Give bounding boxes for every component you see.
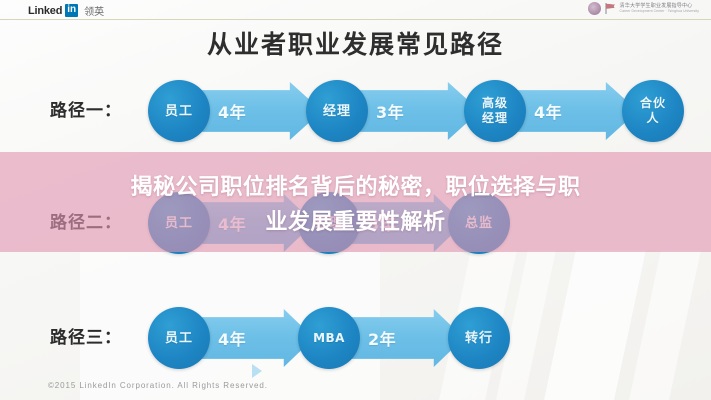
page-title: 从业者职业发展常见路径 [0,25,711,61]
path-flow: 员工4年经理3年高级 经理4年合伙 人 [148,66,684,156]
footer-arrow-tail-icon [252,364,262,378]
header-divider [0,19,711,20]
linkedin-logo: Linkedin 领英 [28,3,104,18]
organization-name: 清华大学学生职业发展指导中心 Career Development Center… [620,4,699,14]
path-arrow-duration-label: 2年 [368,326,396,350]
path-node: 合伙 人 [622,80,684,142]
slide-header: Linkedin 领英 清华大学学生职业发展指导中心 Career Develo… [0,0,711,20]
path-node-label: 转行 [465,331,493,346]
path-node-label: 高级 经理 [482,96,508,126]
path-arrow-duration-label: 4年 [218,326,246,350]
path-flow: 员工4年MBA2年转行 [148,293,510,383]
university-seal-icon [588,2,601,15]
university-emblem-icon [605,2,616,15]
path-node: 经理 [306,80,368,142]
path-node-label: 经理 [323,104,351,119]
path-node-label: 员工 [165,331,193,346]
overlay-title-line-1: 揭秘公司职位排名背后的秘密，职位选择与职 [130,169,580,201]
path-node-label: MBA [313,331,345,346]
path-arrow-duration-label: 3年 [376,99,404,123]
path-node-label: 合伙 人 [640,96,666,126]
organization-name-en: Career Development Center · Tsinghua Uni… [620,10,699,13]
copyright-notice: ©2015 LinkedIn Corporation. All Rights R… [48,381,268,390]
path-row-label: 路径一： [50,96,122,121]
path-row-3: 路径三： 员工4年MBA2年转行 [0,293,711,383]
organization-name-cn: 清华大学学生职业发展指导中心 [620,4,699,9]
path-arrow-duration-label: 4年 [534,99,562,123]
linkedin-in-badge: in [65,4,78,17]
path-row-label: 路径三： [50,323,122,348]
path-node: 员工 [148,80,210,142]
linkedin-chinese-name: 领英 [84,3,104,18]
organization-logo: 清华大学学生职业发展指导中心 Career Development Center… [588,2,699,15]
slide-canvas: Linkedin 领英 清华大学学生职业发展指导中心 Career Develo… [0,0,711,400]
overlay-title-line-2: 业发展重要性解析 [265,204,445,236]
path-node: 高级 经理 [464,80,526,142]
article-title-overlay: 揭秘公司职位排名背后的秘密，职位选择与职 业发展重要性解析 [0,152,711,252]
path-node: 员工 [148,307,210,369]
path-node-label: 员工 [165,104,193,119]
path-arrow-duration-label: 4年 [218,99,246,123]
linkedin-wordmark: Linked [28,5,62,17]
path-row-1: 路径一： 员工4年经理3年高级 经理4年合伙 人 [0,66,711,156]
path-node: 转行 [448,307,510,369]
path-node: MBA [298,307,360,369]
